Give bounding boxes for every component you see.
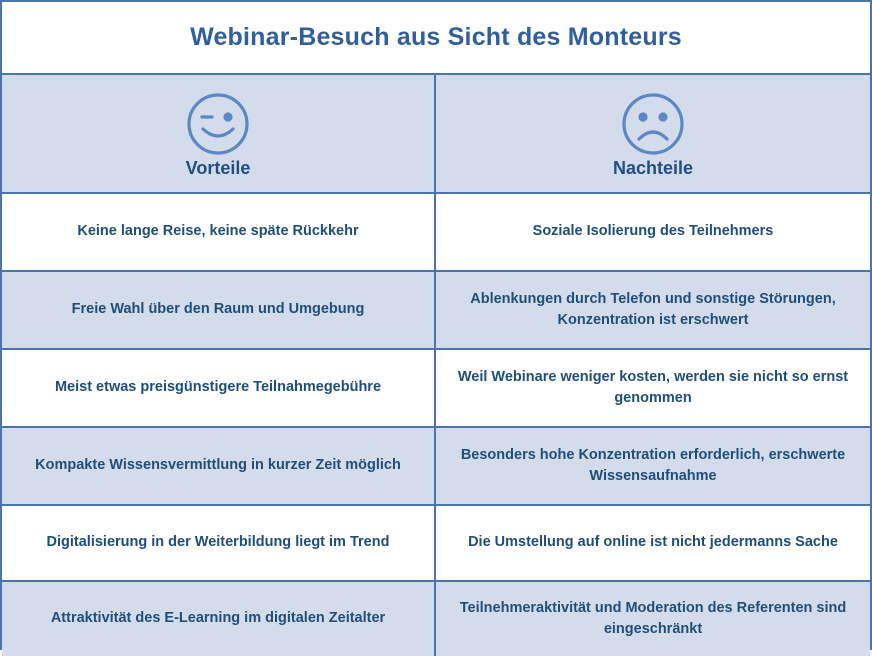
- table-row: Keine lange Reise, keine späte Rückkehr …: [2, 194, 870, 272]
- table-row: Meist etwas preisgünstigere Teilnahmegeb…: [2, 350, 870, 428]
- cons-text: Weil Webinare weniger kosten, werden sie…: [450, 367, 856, 409]
- column-header-cons: Nachteile: [436, 75, 870, 192]
- pros-cell: Meist etwas preisgünstigere Teilnahmegeb…: [2, 350, 436, 426]
- cons-text: Die Umstellung auf online ist nicht jede…: [468, 532, 838, 553]
- cons-cell: Die Umstellung auf online ist nicht jede…: [436, 506, 870, 580]
- cons-cell: Besonders hohe Konzentration erforderlic…: [436, 428, 870, 504]
- pros-text: Keine lange Reise, keine späte Rückkehr: [77, 221, 358, 242]
- cons-text: Ablenkungen durch Telefon und sonstige S…: [450, 289, 856, 331]
- pros-text: Meist etwas preisgünstigere Teilnahmegeb…: [55, 377, 381, 398]
- pros-text: Digitalisierung in der Weiterbildung lie…: [47, 532, 390, 553]
- pros-cell: Digitalisierung in der Weiterbildung lie…: [2, 506, 436, 580]
- cons-cell: Soziale Isolierung des Teilnehmers: [436, 194, 870, 270]
- sad-face-icon: [620, 91, 686, 157]
- pros-cell: Keine lange Reise, keine späte Rückkehr: [2, 194, 436, 270]
- column-header-cons-label: Nachteile: [613, 159, 693, 179]
- pros-cell: Freie Wahl über den Raum und Umgebung: [2, 272, 436, 348]
- column-header-row: Vorteile Nachteile: [2, 75, 870, 194]
- pros-cell: Kompakte Wissensvermittlung in kurzer Ze…: [2, 428, 436, 504]
- cons-cell: Ablenkungen durch Telefon und sonstige S…: [436, 272, 870, 348]
- cons-text: Teilnehmeraktivität und Moderation des R…: [450, 598, 856, 640]
- infographic-container: Webinar-Besuch aus Sicht des Monteurs Vo…: [0, 0, 872, 650]
- table-row: Kompakte Wissensvermittlung in kurzer Ze…: [2, 428, 870, 506]
- table-row: Freie Wahl über den Raum und Umgebung Ab…: [2, 272, 870, 350]
- pros-text: Freie Wahl über den Raum und Umgebung: [72, 299, 365, 320]
- pros-text: Kompakte Wissensvermittlung in kurzer Ze…: [35, 455, 401, 476]
- column-header-pros-label: Vorteile: [186, 159, 251, 179]
- table-row: Digitalisierung in der Weiterbildung lie…: [2, 506, 870, 582]
- cons-cell: Teilnehmeraktivität und Moderation des R…: [436, 582, 870, 656]
- page-title: Webinar-Besuch aus Sicht des Monteurs: [190, 23, 682, 52]
- cons-text: Soziale Isolierung des Teilnehmers: [533, 221, 774, 242]
- column-header-pros: Vorteile: [2, 75, 436, 192]
- cons-text: Besonders hohe Konzentration erforderlic…: [450, 445, 856, 487]
- pros-text: Attraktivität des E-Learning im digitale…: [51, 608, 385, 629]
- table-row: Attraktivität des E-Learning im digitale…: [2, 582, 870, 656]
- pros-cell: Attraktivität des E-Learning im digitale…: [2, 582, 436, 656]
- cons-cell: Weil Webinare weniger kosten, werden sie…: [436, 350, 870, 426]
- title-band: Webinar-Besuch aus Sicht des Monteurs: [2, 2, 870, 75]
- winking-face-icon: [185, 91, 251, 157]
